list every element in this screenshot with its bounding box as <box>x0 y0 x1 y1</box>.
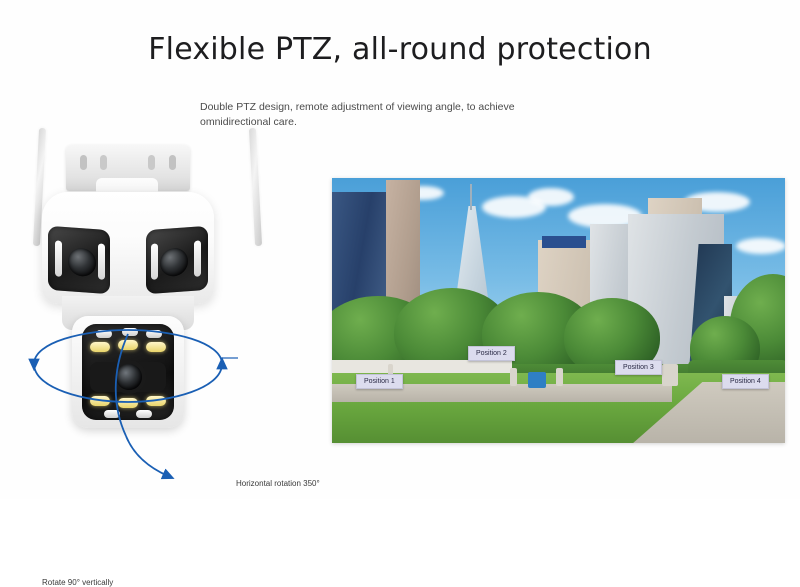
page-title: Flexible PTZ, all-round protection <box>0 32 800 67</box>
horizontal-rotation-label: Horizontal rotation 350° <box>236 479 320 488</box>
tower-mast <box>470 184 472 210</box>
position-label-2[interactable]: Position 2 <box>468 346 515 361</box>
rotation-indicators <box>0 120 330 499</box>
position-label-1[interactable]: Position 1 <box>356 374 403 389</box>
cloud <box>736 238 785 254</box>
trash-bin <box>528 372 546 388</box>
bollard <box>556 368 563 386</box>
building-signage <box>542 236 586 248</box>
pillar <box>662 364 678 386</box>
bollard <box>510 368 517 386</box>
cloud <box>528 188 574 206</box>
vertical-rotation-arrow <box>126 436 168 476</box>
position-label-3[interactable]: Position 3 <box>615 360 662 375</box>
vertical-rotation-label: Rotate 90° vertically <box>42 578 113 587</box>
camera-view-photo: Position 1 Position 2 Position 3 Positio… <box>332 178 785 443</box>
position-label-4[interactable]: Position 4 <box>722 374 769 389</box>
camera-illustration: Horizontal rotation 350° Rotate 90° vert… <box>0 120 330 499</box>
vertical-rotation-arc <box>116 334 128 436</box>
horizontal-rotation-arc <box>34 364 222 402</box>
marketing-slide: Flexible PTZ, all-round protection Doubl… <box>0 0 800 499</box>
